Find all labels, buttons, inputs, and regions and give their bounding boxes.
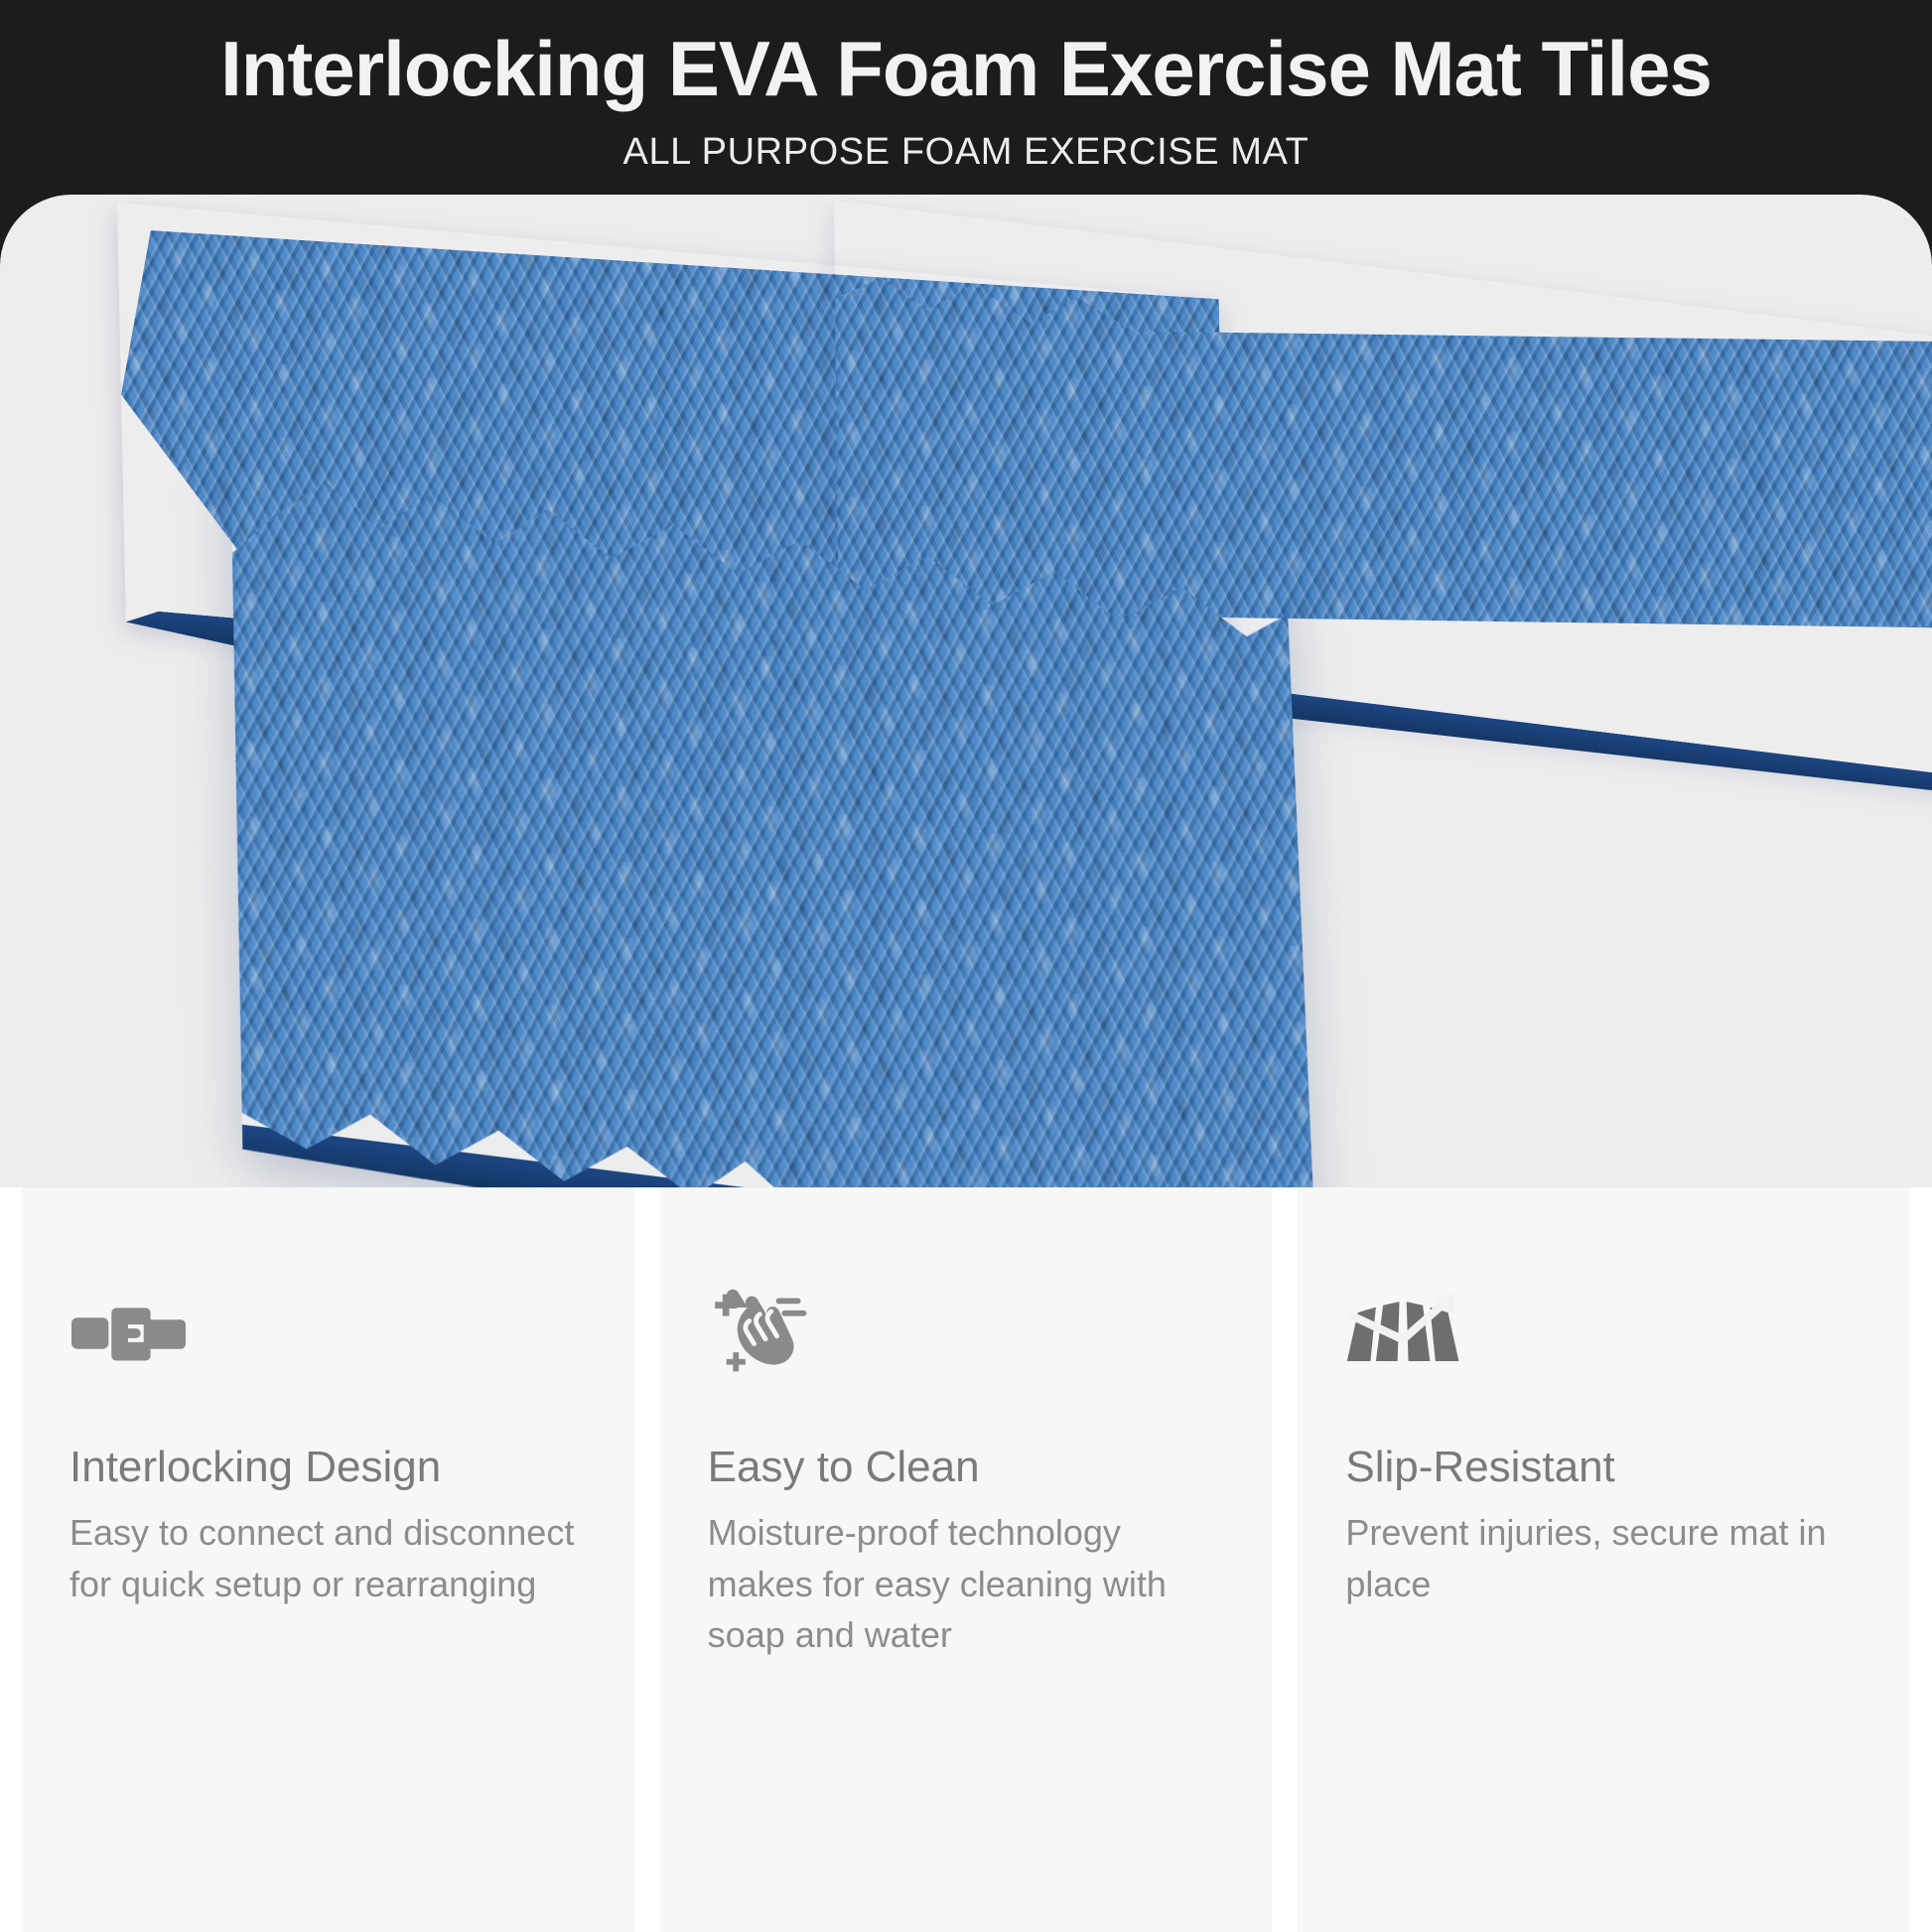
feature-card-easy-to-clean: Easy to Clean Moisture-proof technology …	[660, 1187, 1273, 1932]
washing-hands-icon	[708, 1285, 825, 1380]
product-infographic: Interlocking EVA Foam Exercise Mat Tiles…	[0, 0, 1932, 1932]
feature-title: Easy to Clean	[708, 1444, 1225, 1491]
feature-card-slip-resistant: Slip-Resistant Prevent injuries, secure …	[1298, 1187, 1910, 1932]
feature-title: Interlocking Design	[69, 1444, 587, 1491]
interlocking-puzzle-icon	[69, 1285, 187, 1380]
feature-card-list: Interlocking Design Easy to connect and …	[0, 1187, 1932, 1932]
page-subtitle: ALL PURPOSE FOAM EXERCISE MAT	[623, 131, 1310, 174]
feature-card-interlocking-design: Interlocking Design Easy to connect and …	[22, 1187, 634, 1932]
page-title: Interlocking EVA Foam Exercise Mat Tiles	[220, 30, 1712, 109]
feature-title: Slip-Resistant	[1345, 1444, 1863, 1491]
slip-resistant-tread-icon	[1345, 1285, 1462, 1380]
product-photo-stage	[0, 195, 1932, 1187]
feature-description: Prevent injuries, secure mat in place	[1345, 1507, 1862, 1608]
feature-description: Moisture-proof technology makes for easy…	[708, 1507, 1224, 1659]
feature-description: Easy to connect and disconnect for quick…	[69, 1507, 586, 1608]
hero-product-image	[0, 195, 1932, 1187]
